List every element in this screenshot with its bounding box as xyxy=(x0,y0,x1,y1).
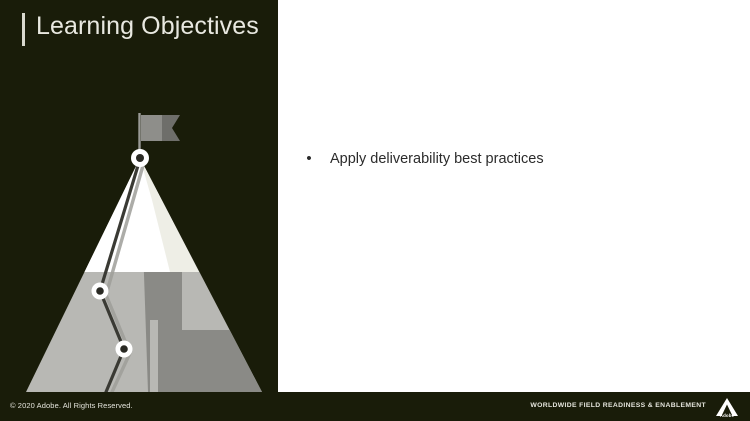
list-item-label: Apply deliverability best practices xyxy=(330,148,544,170)
list-item: • Apply deliverability best practices xyxy=(306,148,726,170)
objectives-list: • Apply deliverability best practices xyxy=(306,148,726,170)
adobe-wordmark: Adobe xyxy=(712,413,742,418)
flag-banner-dark xyxy=(162,115,180,141)
waypoint-marker-middle xyxy=(92,283,109,300)
bullet-point-icon: • xyxy=(306,148,312,170)
title-panel: Learning Objectives xyxy=(0,0,278,392)
waypoint-marker-summit xyxy=(131,149,149,167)
footer-copyright: © 2020 Adobe. All Rights Reserved. xyxy=(10,401,133,410)
content-area: • Apply deliverability best practices xyxy=(278,0,750,392)
mountain-illustration xyxy=(0,0,278,392)
slide-canvas: Learning Objectives xyxy=(0,0,750,421)
flag-banner-light xyxy=(141,115,162,141)
waypoint-marker-lower xyxy=(116,341,133,358)
footer-bar: © 2020 Adobe. All Rights Reserved. WORLD… xyxy=(0,392,750,421)
footer-organization-label: WORLDWIDE FIELD READINESS & ENABLEMENT xyxy=(530,402,706,409)
